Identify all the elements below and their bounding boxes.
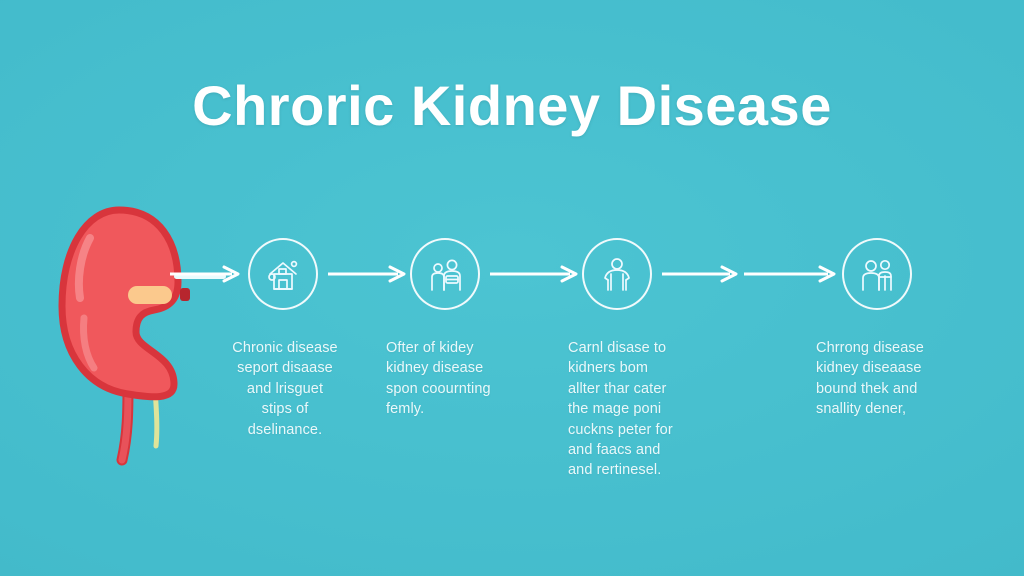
page-title: Chroric Kidney Disease bbox=[0, 78, 1024, 134]
caption-line: snallity dener, bbox=[816, 399, 994, 419]
person-icon bbox=[597, 254, 637, 294]
process-flow bbox=[170, 238, 950, 310]
kidney-hilum bbox=[128, 286, 172, 304]
flow-arrow-1 bbox=[328, 266, 410, 282]
caption-line: seport disaase bbox=[196, 358, 374, 378]
caption-line: Chrrong disease bbox=[816, 338, 994, 358]
caption-line: kidney diseaase bbox=[816, 358, 994, 378]
flow-step-3-person[interactable] bbox=[582, 238, 652, 310]
caption-line: spon coournting bbox=[386, 379, 564, 399]
home-icon bbox=[263, 254, 303, 294]
flow-step-4-couple[interactable] bbox=[842, 238, 912, 310]
caption-line: allter thar cater bbox=[568, 379, 746, 399]
infographic-canvas: Chroric Kidney Disease bbox=[0, 0, 1024, 576]
caption-block: Chronic disease seport disaase and lrisg… bbox=[196, 338, 986, 518]
caption-line: and faacs and bbox=[568, 440, 746, 460]
caption-line: femly. bbox=[386, 399, 564, 419]
flow-arrow-0 bbox=[170, 266, 244, 282]
flow-arrow-3a bbox=[662, 266, 742, 282]
caption-column-4: Chrrong disease kidney diseaase bound th… bbox=[816, 338, 994, 420]
flow-step-1-home[interactable] bbox=[248, 238, 318, 310]
flow-step-2-family-group[interactable] bbox=[410, 238, 480, 310]
caption-line: and lrisguet bbox=[196, 379, 374, 399]
flow-arrow-3b bbox=[744, 266, 840, 282]
caption-line: kidney disease bbox=[386, 358, 564, 378]
caption-line: and rertinesel. bbox=[568, 460, 746, 480]
caption-column-1: Chronic disease seport disaase and lrisg… bbox=[196, 338, 374, 440]
caption-column-3: Carnl disase to kidners bom allter thar … bbox=[568, 338, 746, 481]
caption-line: bound thek and bbox=[816, 379, 994, 399]
flow-arrow-2 bbox=[490, 266, 582, 282]
caption-line: stips of bbox=[196, 399, 374, 419]
caption-line: cuckns peter for bbox=[568, 420, 746, 440]
caption-line: kidners bom bbox=[568, 358, 746, 378]
couple-icon bbox=[857, 254, 897, 294]
caption-line: Ofter of kidey bbox=[386, 338, 564, 358]
caption-line: Chronic disease bbox=[196, 338, 374, 358]
caption-line: the mage poni bbox=[568, 399, 746, 419]
caption-line: Carnl disase to bbox=[568, 338, 746, 358]
caption-line: dselinance. bbox=[196, 420, 374, 440]
family-group-icon bbox=[425, 254, 465, 294]
caption-column-2: Ofter of kidey kidney disease spon coour… bbox=[386, 338, 564, 420]
